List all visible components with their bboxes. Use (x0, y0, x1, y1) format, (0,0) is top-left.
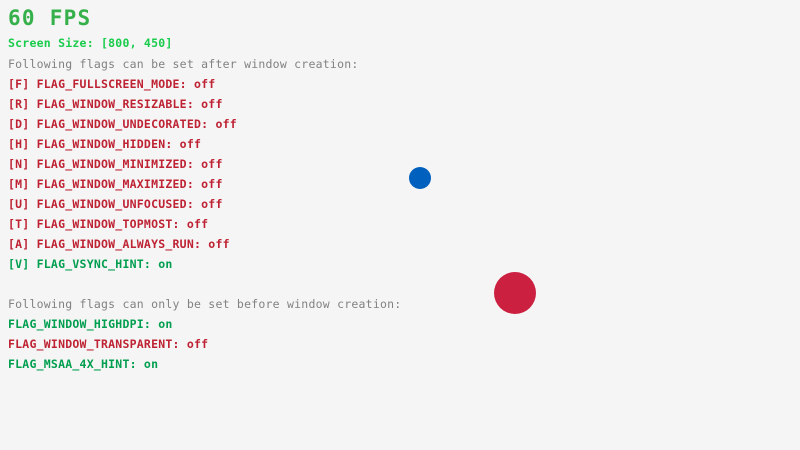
flag-row-flag-window-unfocused[interactable]: [U] FLAG_WINDOW_UNFOCUSED: off (8, 198, 223, 211)
flag-row-flag-window-topmost[interactable]: [T] FLAG_WINDOW_TOPMOST: off (8, 218, 208, 231)
flag-row-flag-window-hidden[interactable]: [H] FLAG_WINDOW_HIDDEN: off (8, 138, 201, 151)
flag-row-flag-window-transparent[interactable]: FLAG_WINDOW_TRANSPARENT: off (8, 338, 208, 351)
fps-counter: 60 FPS (8, 6, 91, 30)
app-window: 60 FPS Screen Size: [800, 450] Following… (0, 0, 800, 450)
screen-size-label: Screen Size: [800, 450] (8, 37, 173, 50)
flag-row-flag-window-resizable[interactable]: [R] FLAG_WINDOW_RESIZABLE: off (8, 98, 223, 111)
flag-row-flag-window-maximized[interactable]: [M] FLAG_WINDOW_MAXIMIZED: off (8, 178, 223, 191)
flag-row-flag-window-undecorated[interactable]: [D] FLAG_WINDOW_UNDECORATED: off (8, 118, 237, 131)
runtime-flags-note: Following flags can be set after window … (8, 58, 359, 71)
flag-row-flag-vsync-hint[interactable]: [V] FLAG_VSYNC_HINT: on (8, 258, 173, 271)
flag-row-flag-window-highdpi[interactable]: FLAG_WINDOW_HIGHDPI: on (8, 318, 173, 331)
bouncing-ball-red (494, 272, 536, 314)
flag-row-flag-window-minimized[interactable]: [N] FLAG_WINDOW_MINIMIZED: off (8, 158, 223, 171)
bouncing-ball-blue (409, 167, 431, 189)
flag-row-flag-msaa-4x-hint[interactable]: FLAG_MSAA_4X_HINT: on (8, 358, 158, 371)
flag-row-flag-window-always-run[interactable]: [A] FLAG_WINDOW_ALWAYS_RUN: off (8, 238, 230, 251)
flag-row-flag-fullscreen-mode[interactable]: [F] FLAG_FULLSCREEN_MODE: off (8, 78, 215, 91)
creation-flags-note: Following flags can only be set before w… (8, 298, 401, 311)
